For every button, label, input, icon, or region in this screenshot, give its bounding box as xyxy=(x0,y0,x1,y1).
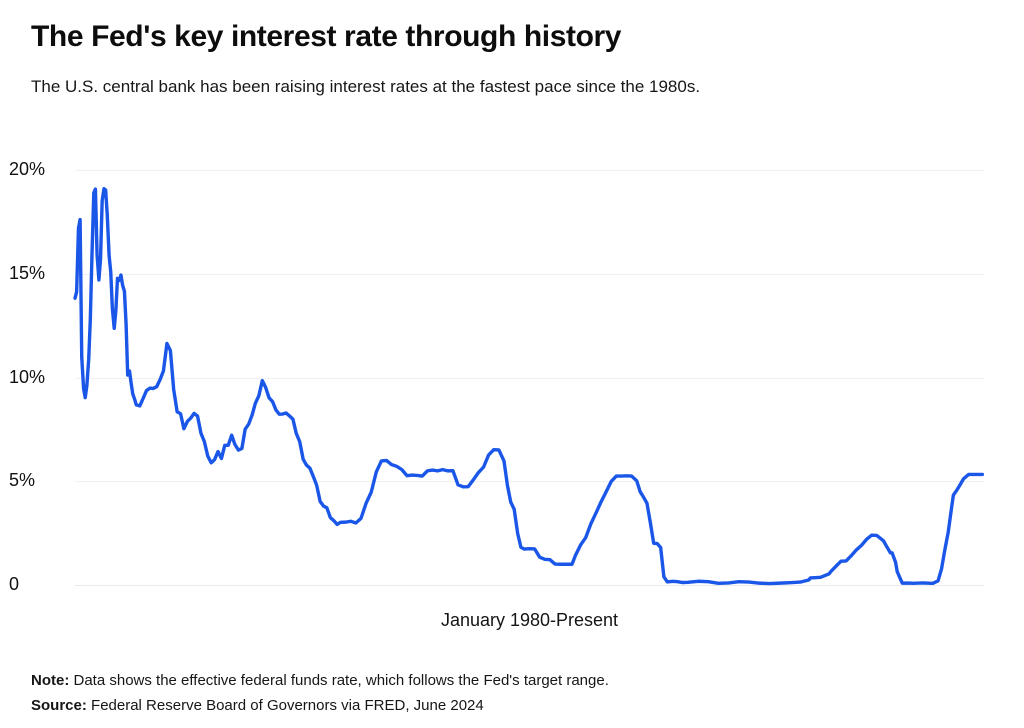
footer-source-line: Source: Federal Reserve Board of Governo… xyxy=(31,693,991,718)
footer-note-line: Note: Data shows the effective federal f… xyxy=(31,668,991,693)
chart-page: The Fed's key interest rate through hist… xyxy=(0,0,1024,728)
y-axis-tick-label: 0 xyxy=(9,574,71,594)
chart-footer: Note: Data shows the effective federal f… xyxy=(31,668,991,718)
footer-source-label: Source: xyxy=(31,697,87,714)
chart-x-axis-label: January 1980-Present xyxy=(75,608,984,632)
fed-funds-rate-line xyxy=(75,189,982,584)
chart-plot-frame: 20%15%10%5%0 January 1980-Present xyxy=(0,140,1024,610)
footer-source-text: Federal Reserve Board of Governors via F… xyxy=(87,697,484,714)
gridline-0 xyxy=(75,585,984,586)
y-axis-tick-label: 15% xyxy=(9,263,71,283)
page-title: The Fed's key interest rate through hist… xyxy=(31,18,991,56)
chart-plot-area: 20%15%10%5%0 xyxy=(75,170,984,585)
chart-subtitle: The U.S. central bank has been raising i… xyxy=(31,75,991,99)
y-axis-tick-label: 10% xyxy=(9,367,71,387)
y-axis-tick-label: 20% xyxy=(9,159,71,179)
y-axis-tick-label: 5% xyxy=(9,470,71,490)
footer-note-label: Note: xyxy=(31,672,69,689)
chart-line-series xyxy=(75,170,984,585)
footer-note-text: Data shows the effective federal funds r… xyxy=(69,672,609,689)
